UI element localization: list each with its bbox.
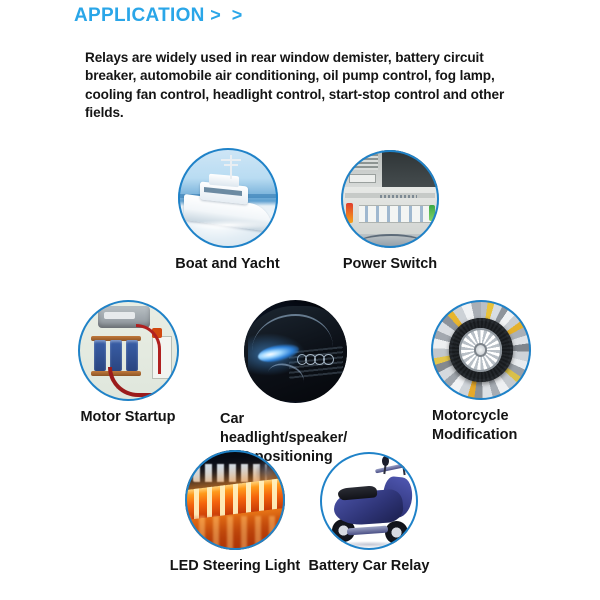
application-label: Battery Car Relay — [289, 557, 449, 576]
thumbnail-wrapper — [244, 300, 347, 403]
scooter-illustration — [320, 452, 418, 550]
chevron-right-icon: > > — [210, 5, 245, 25]
application-label: Power Switch — [330, 255, 450, 274]
thumbnail-wrapper — [185, 450, 285, 550]
intro-paragraph: Relays are widely used in rear window de… — [85, 49, 525, 123]
application-item-motor-startup[interactable]: Motor Startup — [62, 300, 194, 427]
application-label: Boat and Yacht — [160, 255, 295, 274]
yacht-photo — [178, 148, 278, 248]
page-title-text: APPLICATION — [74, 5, 205, 26]
page-title: APPLICATION > > — [74, 5, 245, 27]
application-item-boat-and-yacht[interactable]: Boat and Yacht — [160, 148, 295, 274]
car-headlight-photo — [244, 300, 347, 403]
thumbnail-wrapper — [431, 300, 531, 400]
application-item-battery-car-relay[interactable]: Battery Car Relay — [289, 452, 449, 576]
motor-startup-illustration — [78, 300, 179, 401]
electric-scooter-photo — [320, 452, 418, 550]
power-switch-illustration — [341, 150, 439, 248]
thumbnail-wrapper — [341, 150, 439, 248]
application-item-motorcycle-modification[interactable]: Motorcycle Modification — [428, 300, 533, 445]
thumbnail-wrapper — [178, 148, 278, 248]
led-light-bar-photo — [185, 450, 285, 550]
car-headlight-illustration — [244, 300, 347, 403]
yacht-illustration — [178, 148, 278, 248]
application-label: Motor Startup — [62, 408, 194, 427]
power-switch-panel-photo — [341, 150, 439, 248]
thumbnail-wrapper — [78, 300, 179, 401]
motor-starter-contactor-photo — [78, 300, 179, 401]
application-item-power-switch[interactable]: Power Switch — [330, 150, 450, 274]
led-light-illustration — [185, 450, 285, 550]
application-label: Motorcycle Modification — [428, 407, 533, 445]
motorcycle-illustration — [431, 300, 531, 400]
thumbnail-wrapper — [320, 452, 418, 550]
motorcycle-parts-wheel-photo — [431, 300, 531, 400]
application-item-car-headlight-speaker-gps[interactable]: Car headlight/speaker/ GPS positioning — [218, 300, 373, 467]
